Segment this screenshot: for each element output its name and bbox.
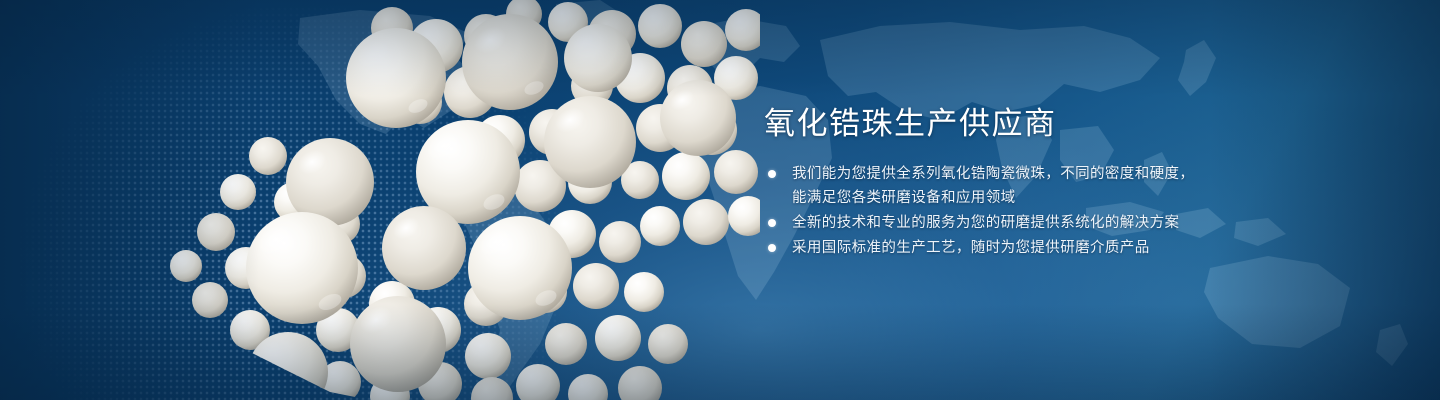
list-item: 采用国际标准的生产工艺，随时为您提供研磨介质产品 — [764, 236, 1364, 260]
list-item-line2: 能满足您各类研磨设备和应用领域 — [792, 186, 1364, 210]
list-item-line1: 采用国际标准的生产工艺，随时为您提供研磨介质产品 — [792, 240, 1150, 256]
list-item-line1: 我们能为您提供全系列氧化锆陶瓷微珠，不同的密度和硬度， — [792, 166, 1194, 182]
list-item-line1: 全新的技术和专业的服务为您的研磨提供系统化的解决方案 — [792, 215, 1179, 231]
zirconia-beads-cluster — [0, 0, 760, 400]
bullet-dot-icon — [768, 219, 776, 227]
list-item: 我们能为您提供全系列氧化锆陶瓷微珠，不同的密度和硬度， 能满足您各类研磨设备和应… — [764, 162, 1364, 210]
list-item: 全新的技术和专业的服务为您的研磨提供系统化的解决方案 — [764, 211, 1364, 235]
feature-list: 我们能为您提供全系列氧化锆陶瓷微珠，不同的密度和硬度， 能满足您各类研磨设备和应… — [764, 162, 1364, 260]
bullet-dot-icon — [768, 170, 776, 178]
page-title: 氧化锆珠生产供应商 — [764, 104, 1364, 144]
bullet-dot-icon — [768, 244, 776, 252]
banner-copy: 氧化锆珠生产供应商 我们能为您提供全系列氧化锆陶瓷微珠，不同的密度和硬度， 能满… — [764, 104, 1364, 261]
hero-banner: 氧化锆珠生产供应商 我们能为您提供全系列氧化锆陶瓷微珠，不同的密度和硬度， 能满… — [0, 0, 1440, 400]
